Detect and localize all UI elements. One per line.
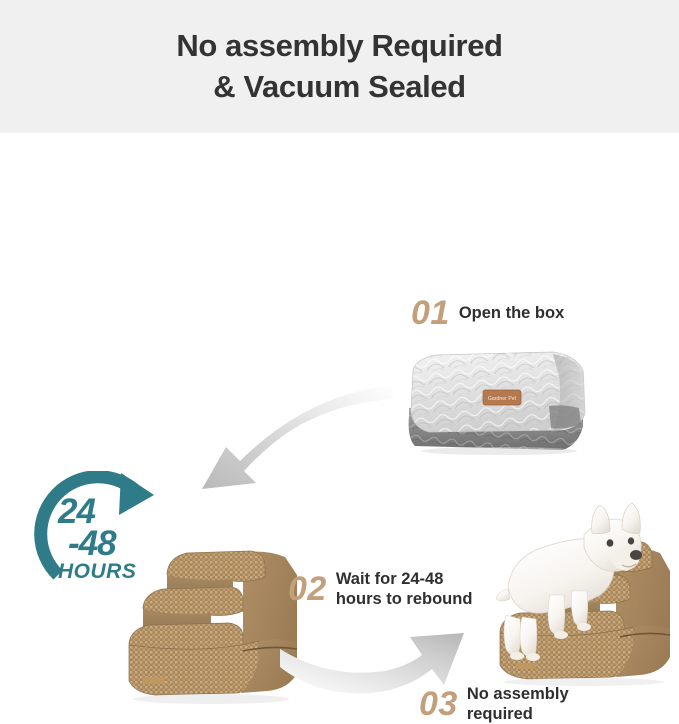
flow-arrow-1-shape	[202, 385, 393, 489]
stairs-right-brand-tag	[516, 663, 536, 669]
dog-nose	[630, 550, 642, 560]
stairs-left-shadow	[133, 694, 289, 704]
dog-eye-left	[607, 539, 614, 547]
stairs-left-tread-middle	[143, 587, 243, 616]
dog-on-stairs-illustration	[488, 491, 679, 686]
stairs-left-brand-tag	[143, 677, 165, 684]
infographic-stage: 01 Open the box	[0, 133, 679, 599]
step-01-number: 01	[411, 296, 450, 330]
package-brand-text: Gardner Pet	[488, 396, 517, 402]
step-02-text: Wait for 24-48 hours to rebound	[336, 569, 473, 609]
dog-hind-leg-far	[504, 615, 521, 655]
page-title-line-1: No assembly Required	[176, 26, 502, 67]
dog-hind-leg-near	[520, 617, 537, 657]
flow-arrow-1	[178, 381, 393, 493]
dog-paw-3	[554, 631, 568, 639]
dog-tail	[496, 589, 510, 601]
step-02-caption: 02 Wait for 24-48 hours to rebound	[288, 569, 472, 609]
page-title-line-2: & Vacuum Sealed	[213, 67, 465, 108]
package-illustration: Gardner Pet	[403, 346, 595, 456]
step-01-caption: 01 Open the box	[411, 296, 564, 330]
stairs-left-tread-top	[167, 551, 265, 582]
dog-paw-4	[577, 623, 591, 631]
dog-on-stairs-image	[488, 491, 679, 686]
header-banner: No assembly Required & Vacuum Sealed	[0, 0, 679, 133]
stairs-left-front-face	[129, 641, 259, 695]
package-brand-label: Gardner Pet	[483, 390, 521, 405]
vacuum-sealed-package-image: Gardner Pet	[403, 346, 595, 456]
dog-paw-2	[526, 653, 540, 661]
dog-paw-1	[510, 652, 524, 660]
dog-front-leg-far	[548, 595, 565, 635]
dog-eye-right	[628, 537, 634, 544]
step-01-text: Open the box	[459, 303, 564, 323]
flow-arrow-1-icon	[178, 381, 393, 493]
package-shadow	[421, 447, 577, 455]
step-02-number: 02	[288, 572, 327, 606]
step-03-text: No assembly required	[467, 684, 569, 724]
dog-ear-right	[622, 503, 640, 534]
step-03-number: 03	[419, 687, 458, 721]
dog-ear-left	[592, 505, 610, 534]
step-03-caption: 03 No assembly required	[419, 684, 569, 724]
package-right-fold	[549, 405, 581, 428]
